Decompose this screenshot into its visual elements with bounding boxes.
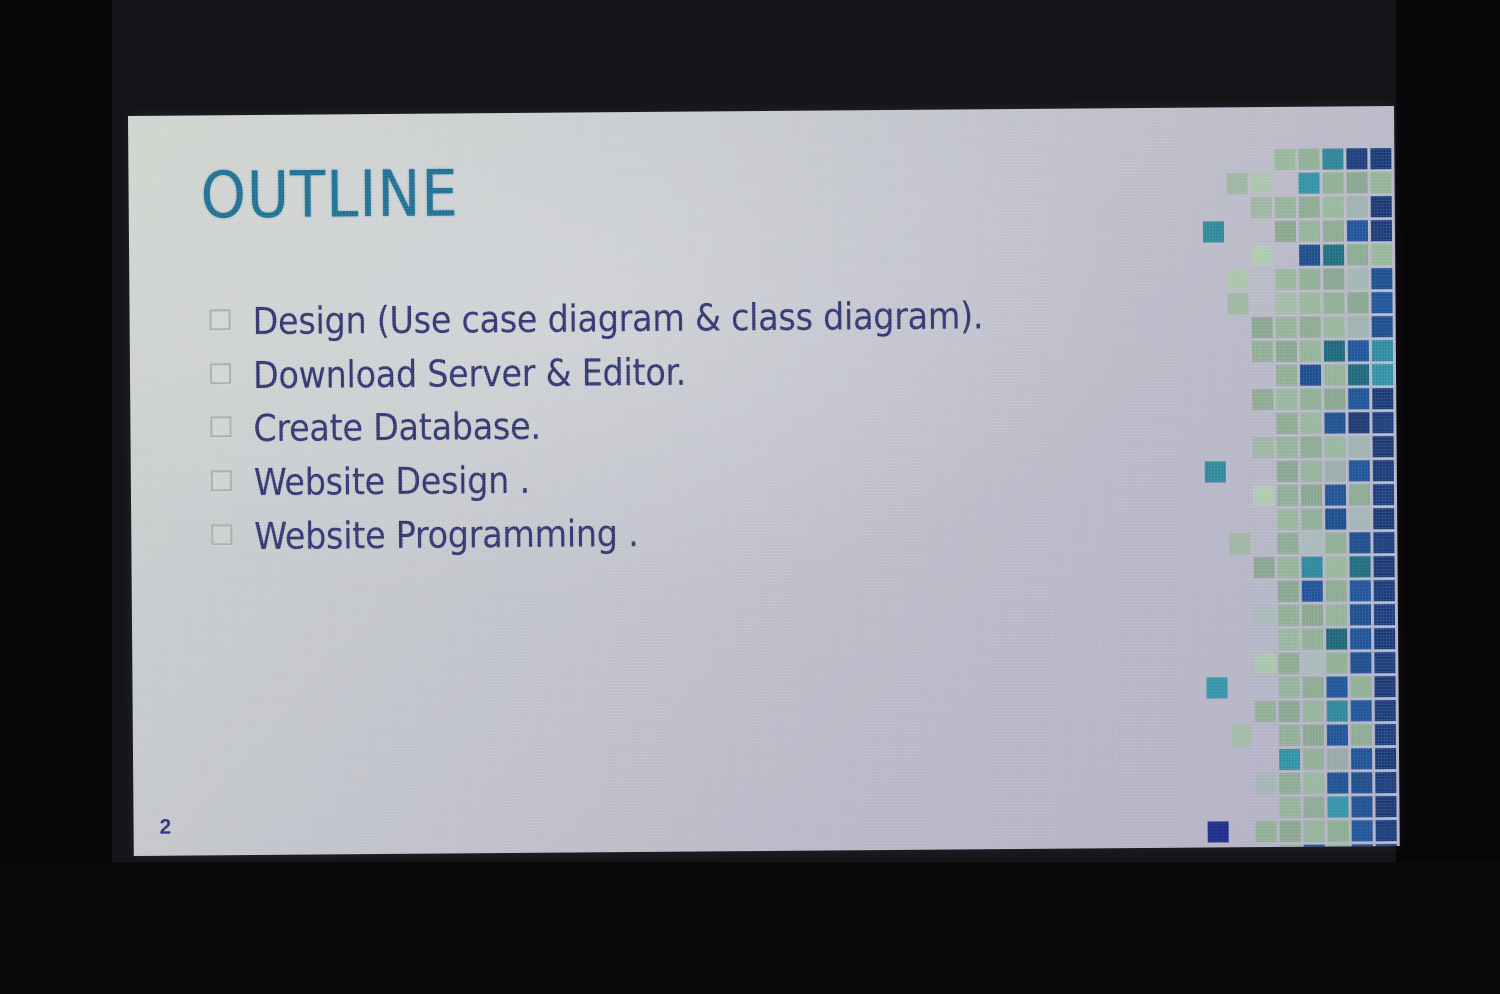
mosaic-cell [1227, 293, 1248, 314]
list-item[interactable]: Create Database. [210, 403, 1150, 448]
mosaic-cell [1299, 221, 1320, 242]
mosaic-cell [1301, 485, 1322, 506]
mosaic-cell [1251, 197, 1272, 218]
mosaic-cell [1301, 557, 1322, 578]
bullet-square-icon [210, 417, 231, 438]
mosaic-cell [1328, 820, 1349, 841]
mosaic-cell [1323, 196, 1344, 217]
mosaic-cell [1347, 196, 1368, 217]
mosaic-cell [1326, 604, 1347, 625]
mosaic-cell [1327, 724, 1348, 745]
mosaic-cell [1373, 532, 1394, 553]
mosaic-cell [1275, 197, 1296, 218]
mosaic-cell [1229, 533, 1250, 554]
pixel-mosaic-decoration [1202, 148, 1399, 847]
mosaic-cell [1346, 172, 1367, 193]
mosaic-cell [1275, 269, 1296, 290]
mosaic-cell [1327, 796, 1348, 817]
mosaic-cell [1322, 148, 1343, 169]
mosaic-cell [1374, 580, 1395, 601]
mosaic-cell [1276, 413, 1297, 434]
mosaic-cell [1302, 581, 1323, 602]
mosaic-cell [1371, 220, 1392, 241]
mosaic-cell [1372, 316, 1393, 337]
mosaic-cell [1252, 389, 1273, 410]
mosaic-cell [1346, 148, 1367, 169]
wall-right [1396, 0, 1500, 994]
mosaic-cell [1299, 197, 1320, 218]
mosaic-cell [1372, 364, 1393, 385]
mosaic-cell [1300, 413, 1321, 434]
mosaic-cell [1350, 652, 1371, 673]
list-item[interactable]: Design (Use case diagram & class diagram… [209, 296, 1149, 341]
list-item-label: Design (Use case diagram & class diagram… [252, 297, 983, 340]
list-item-label: Website Programming . [254, 515, 639, 556]
mosaic-cell [1279, 725, 1300, 746]
mosaic-cell [1255, 701, 1276, 722]
mosaic-cell [1325, 460, 1346, 481]
mosaic-cell [1371, 196, 1392, 217]
wall-left [0, 0, 112, 994]
mosaic-cell [1208, 821, 1229, 842]
mosaic-cell [1374, 604, 1395, 625]
mosaic-cell [1304, 821, 1325, 842]
mosaic-cell [1375, 700, 1396, 721]
mosaic-cell [1275, 293, 1296, 314]
mosaic-cell [1253, 485, 1274, 506]
mosaic-cell [1299, 293, 1320, 314]
mosaic-cell [1300, 341, 1321, 362]
mosaic-cell [1351, 700, 1372, 721]
mosaic-cell [1324, 364, 1345, 385]
mosaic-cell [1277, 461, 1298, 482]
mosaic-cell [1276, 365, 1297, 386]
mosaic-cell [1254, 605, 1275, 626]
mosaic-cell [1253, 437, 1274, 458]
mosaic-cell [1371, 268, 1392, 289]
slide-title: OUTLINE [200, 157, 459, 233]
mosaic-cell [1301, 509, 1322, 530]
wall-bottom [0, 862, 1500, 994]
mosaic-cell [1226, 173, 1247, 194]
mosaic-cell [1323, 244, 1344, 265]
mosaic-cell [1278, 581, 1299, 602]
mosaic-cell [1276, 389, 1297, 410]
mosaic-cell [1374, 628, 1395, 649]
list-item[interactable]: Website Design . [211, 457, 1151, 502]
mosaic-cell [1278, 605, 1299, 626]
mosaic-cell [1376, 820, 1397, 841]
mosaic-cell [1301, 437, 1322, 458]
mosaic-cell [1301, 533, 1322, 554]
bullet-square-icon [211, 470, 232, 491]
presentation-slide: OUTLINE Design (Use case diagram & class… [128, 106, 1400, 856]
mosaic-cell [1349, 508, 1370, 529]
mosaic-cell [1371, 244, 1392, 265]
mosaic-cell [1349, 556, 1370, 577]
mosaic-cell [1373, 460, 1394, 481]
mosaic-cell [1325, 436, 1346, 457]
mosaic-cell [1203, 221, 1224, 242]
mosaic-cell [1205, 461, 1226, 482]
mosaic-cell [1227, 269, 1248, 290]
mosaic-cell [1299, 269, 1320, 290]
mosaic-cell [1349, 532, 1370, 553]
mosaic-cell [1348, 388, 1369, 409]
mosaic-cell [1276, 341, 1297, 362]
mosaic-cell [1277, 485, 1298, 506]
mosaic-cell [1351, 724, 1372, 745]
mosaic-cell [1325, 532, 1346, 553]
mosaic-cell [1327, 700, 1348, 721]
mosaic-cell [1347, 292, 1368, 313]
mosaic-cell [1303, 749, 1324, 770]
mosaic-cell [1302, 653, 1323, 674]
photo-scene: OUTLINE Design (Use case diagram & class… [0, 0, 1500, 994]
mosaic-cell [1372, 388, 1393, 409]
mosaic-cell [1303, 725, 1324, 746]
mosaic-cell [1351, 772, 1372, 793]
mosaic-cell [1302, 677, 1323, 698]
mosaic-cell [1325, 484, 1346, 505]
mosaic-cell [1349, 436, 1370, 457]
list-item-label: Website Design . [254, 462, 530, 502]
list-item[interactable]: Website Programming . [211, 511, 1151, 556]
mosaic-cell [1327, 772, 1348, 793]
mosaic-cell [1324, 340, 1345, 361]
mosaic-cell [1351, 796, 1372, 817]
mosaic-cell [1299, 245, 1320, 266]
mosaic-cell [1300, 317, 1321, 338]
mosaic-cell [1325, 508, 1346, 529]
mosaic-cell [1277, 437, 1298, 458]
mosaic-cell [1373, 508, 1394, 529]
mosaic-cell [1301, 461, 1322, 482]
mosaic-cell [1279, 701, 1300, 722]
mosaic-cell [1303, 701, 1324, 722]
mosaic-cell [1277, 533, 1298, 554]
mosaic-cell [1206, 677, 1227, 698]
mosaic-cell [1279, 749, 1300, 770]
mosaic-cell [1323, 292, 1344, 313]
mosaic-cell [1251, 245, 1272, 266]
slide-wrapper: OUTLINE Design (Use case diagram & class… [128, 106, 1400, 856]
mosaic-cell [1275, 221, 1296, 242]
mosaic-cell [1323, 268, 1344, 289]
mosaic-cell [1347, 244, 1368, 265]
mosaic-cell [1302, 629, 1323, 650]
mosaic-cell [1375, 724, 1396, 745]
mosaic-cell [1351, 748, 1372, 769]
mosaic-cell [1278, 677, 1299, 698]
mosaic-cell [1348, 364, 1369, 385]
slide-number: 2 [159, 816, 171, 840]
mosaic-cell [1298, 173, 1319, 194]
mosaic-cell [1322, 172, 1343, 193]
mosaic-cell [1350, 580, 1371, 601]
mosaic-cell [1375, 796, 1396, 817]
mosaic-cell [1250, 173, 1271, 194]
mosaic-cell [1373, 436, 1394, 457]
mosaic-cell [1374, 676, 1395, 697]
mosaic-cell [1326, 580, 1347, 601]
mosaic-cell [1302, 605, 1323, 626]
mosaic-cell [1352, 820, 1373, 841]
mosaic-cell [1324, 316, 1345, 337]
mosaic-cell [1349, 460, 1370, 481]
mosaic-cell [1325, 556, 1346, 577]
mosaic-cell [1303, 773, 1324, 794]
mosaic-cell [1253, 557, 1274, 578]
list-item[interactable]: Download Server & Editor. [210, 350, 1150, 395]
mosaic-cell [1348, 412, 1369, 433]
mosaic-cell [1347, 268, 1368, 289]
mosaic-cell [1276, 317, 1297, 338]
mosaic-cell [1350, 676, 1371, 697]
mosaic-cell [1255, 773, 1276, 794]
mosaic-cell [1350, 628, 1371, 649]
mosaic-cell [1300, 389, 1321, 410]
mosaic-cell [1373, 484, 1394, 505]
bullet-square-icon [210, 363, 231, 384]
mosaic-cell [1254, 653, 1275, 674]
bullet-square-icon [210, 309, 231, 330]
mosaic-cell [1231, 725, 1252, 746]
mosaic-cell [1252, 317, 1273, 338]
mosaic-cell [1348, 340, 1369, 361]
mosaic-cell [1298, 149, 1319, 170]
mosaic-cell [1300, 365, 1321, 386]
mosaic-cell [1349, 484, 1370, 505]
mosaic-cell [1277, 509, 1298, 530]
mosaic-cell [1372, 340, 1393, 361]
mosaic-cell [1350, 604, 1371, 625]
mosaic-cell [1375, 748, 1396, 769]
mosaic-cell [1279, 773, 1300, 794]
mosaic-cell [1326, 652, 1347, 673]
list-item-label: Download Server & Editor. [253, 353, 686, 394]
mosaic-cell [1324, 412, 1345, 433]
mosaic-cell [1373, 556, 1394, 577]
mosaic-cell [1375, 772, 1396, 793]
mosaic-cell [1278, 653, 1299, 674]
bullet-square-icon [211, 524, 232, 545]
list-item-label: Create Database. [253, 408, 541, 448]
mosaic-cell [1370, 148, 1391, 169]
mosaic-cell [1252, 341, 1273, 362]
mosaic-cell [1256, 821, 1277, 842]
mosaic-cell [1327, 748, 1348, 769]
mosaic-cell [1323, 220, 1344, 241]
mosaic-cell [1278, 629, 1299, 650]
mosaic-cell [1372, 412, 1393, 433]
mosaic-cell [1303, 797, 1324, 818]
mosaic-cell [1274, 149, 1295, 170]
mosaic-cell [1370, 172, 1391, 193]
mosaic-cell [1348, 316, 1369, 337]
mosaic-cell [1324, 388, 1345, 409]
mosaic-cell [1347, 220, 1368, 241]
mosaic-cell [1279, 797, 1300, 818]
mosaic-cell [1326, 676, 1347, 697]
mosaic-cell [1277, 557, 1298, 578]
mosaic-cell [1326, 628, 1347, 649]
mosaic-cell [1374, 652, 1395, 673]
outline-bullet-list: Design (Use case diagram & class diagram… [209, 296, 1151, 572]
mosaic-cell [1280, 821, 1301, 842]
mosaic-cell [1371, 292, 1392, 313]
